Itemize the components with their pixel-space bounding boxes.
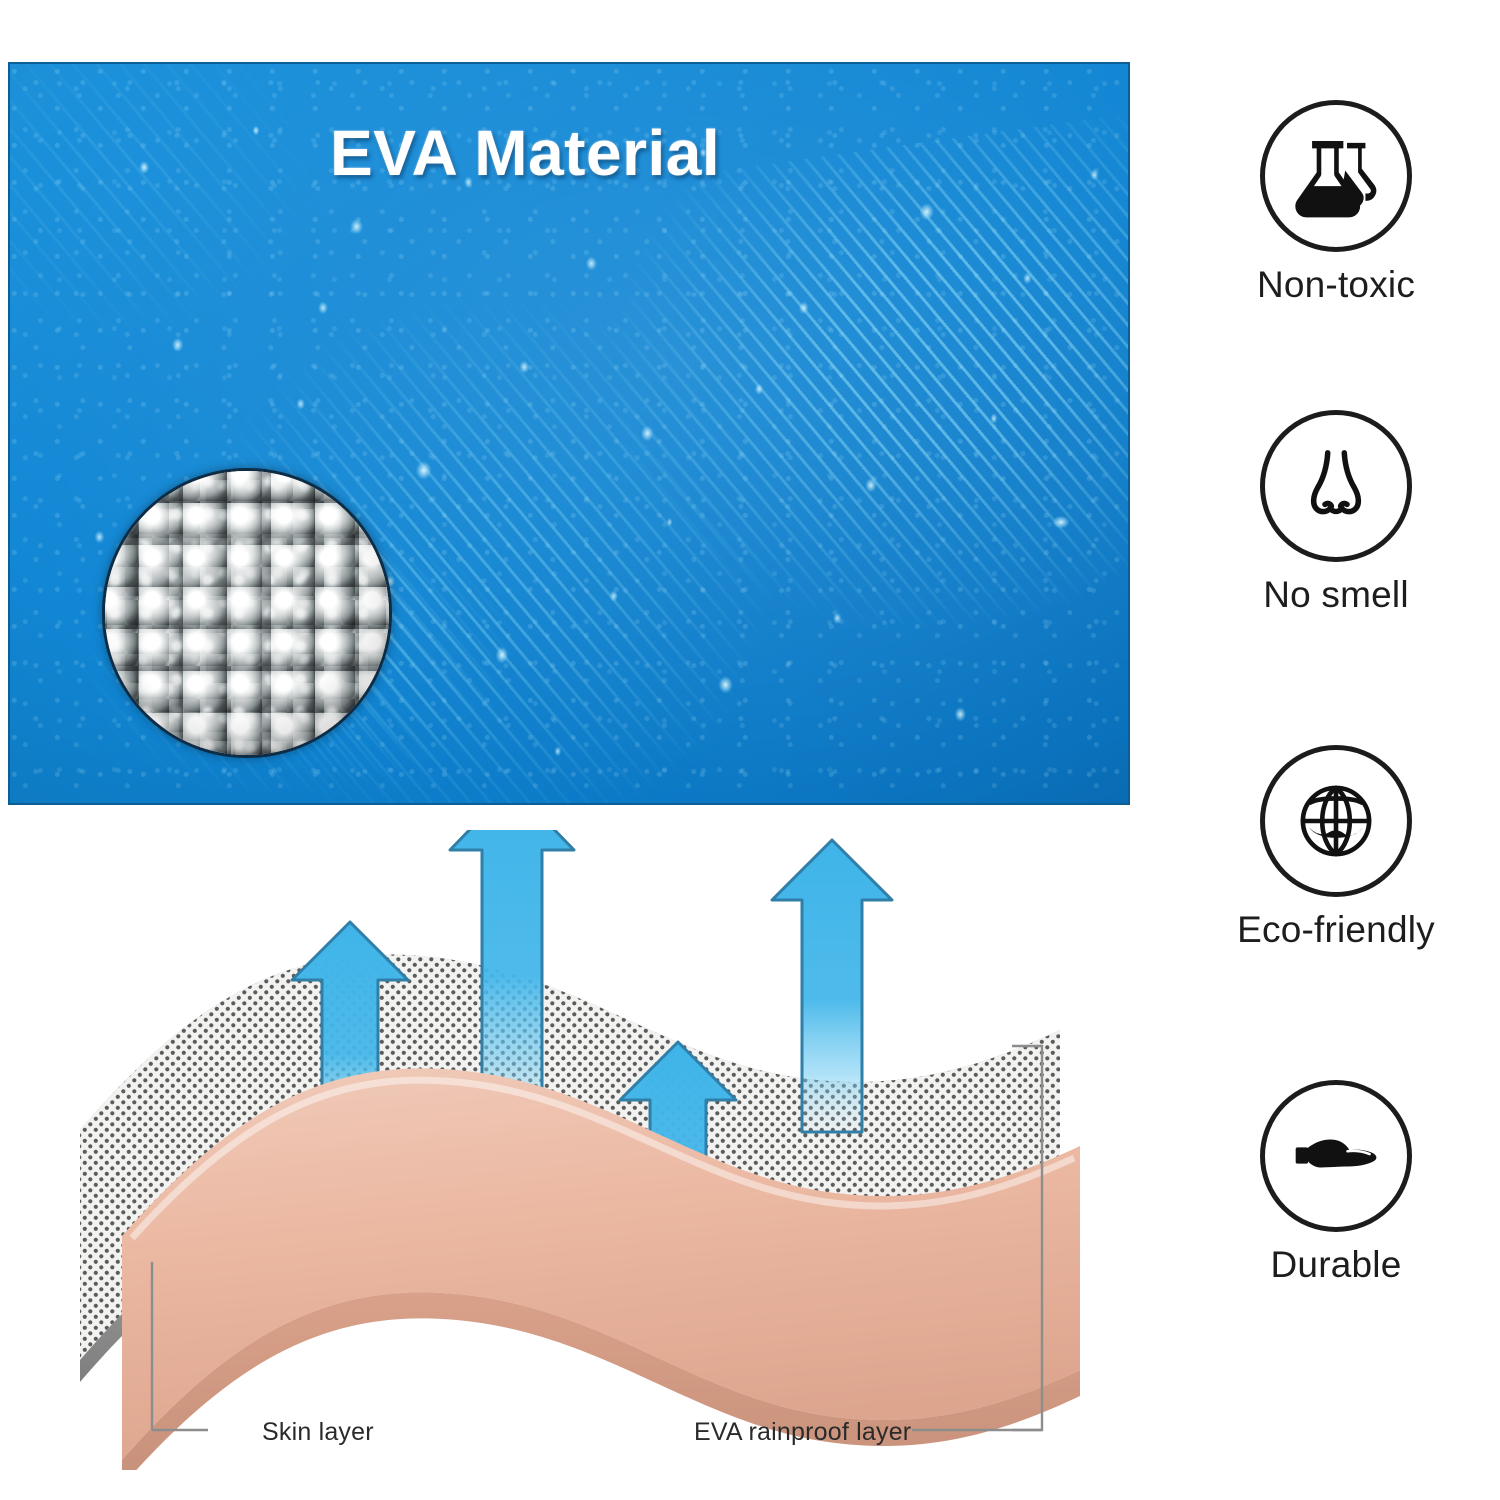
flask-icon [1290, 130, 1382, 222]
feature-non-toxic[interactable]: Non-toxic [1180, 100, 1492, 305]
feature-label: No smell [1180, 576, 1492, 615]
hand-icon [1288, 1108, 1384, 1204]
feature-label: Eco-friendly [1180, 911, 1492, 950]
feature-label: Non-toxic [1180, 266, 1492, 305]
nose-icon [1290, 440, 1382, 532]
layer-structure-diagram [60, 830, 1080, 1470]
eva-pellets-vignette [105, 471, 389, 755]
feature-badge-column: Non-toxic [1180, 100, 1492, 1350]
feature-badge-circle [1260, 745, 1412, 897]
skin-layer-label: Skin layer [262, 1418, 374, 1447]
infographic-canvas: EVA Material [0, 0, 1500, 1500]
feature-badge-circle [1260, 410, 1412, 562]
feature-badge-circle [1260, 1080, 1412, 1232]
feature-durable[interactable]: Durable [1180, 1080, 1492, 1285]
eva-pellets-inset [102, 468, 392, 758]
eva-rainproof-layer-label: EVA rainproof layer [694, 1418, 911, 1447]
page-title: EVA Material [330, 121, 720, 185]
feature-label: Durable [1180, 1246, 1492, 1285]
feature-eco-friendly[interactable]: Eco-friendly [1180, 745, 1492, 950]
feature-badge-circle [1260, 100, 1412, 252]
globe-icon [1290, 775, 1382, 867]
feature-no-smell[interactable]: No smell [1180, 410, 1492, 615]
